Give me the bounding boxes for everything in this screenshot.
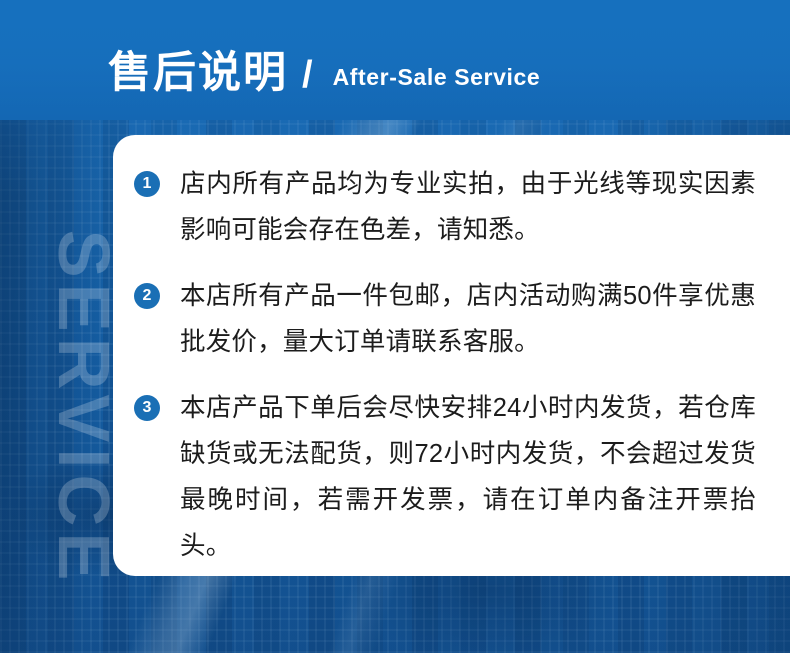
title-separator: / xyxy=(302,56,313,94)
service-info-card: 1 店内所有产品均为专业实拍，由于光线等现实因素影响可能会存在色差，请知悉。 2… xyxy=(113,135,790,576)
list-item: 2 本店所有产品一件包邮，店内活动购满50件享优惠批发价，量大订单请联系客服。 xyxy=(134,273,756,365)
banner-header: 售后说明 / After-Sale Service xyxy=(108,52,540,95)
list-item-number-badge: 1 xyxy=(134,171,160,197)
list-item-number-badge: 3 xyxy=(134,395,160,421)
page-title-chinese: 售后说明 xyxy=(108,52,288,95)
page-title-english: After-Sale Service xyxy=(333,66,541,89)
list-item-number-badge: 2 xyxy=(134,283,160,309)
after-sale-service-banner: SERVICE 售后说明 / After-Sale Service 1 店内所有… xyxy=(0,0,790,653)
service-terms-list: 1 店内所有产品均为专业实拍，由于光线等现实因素影响可能会存在色差，请知悉。 2… xyxy=(134,161,756,569)
list-item: 1 店内所有产品均为专业实拍，由于光线等现实因素影响可能会存在色差，请知悉。 xyxy=(134,161,756,253)
list-item-text: 店内所有产品均为专业实拍，由于光线等现实因素影响可能会存在色差，请知悉。 xyxy=(180,161,756,253)
list-item-text: 本店所有产品一件包邮，店内活动购满50件享优惠批发价，量大订单请联系客服。 xyxy=(180,273,756,365)
list-item: 3 本店产品下单后会尽快安排24小时内发货，若仓库缺货或无法配货，则72小时内发… xyxy=(134,385,756,569)
list-item-text: 本店产品下单后会尽快安排24小时内发货，若仓库缺货或无法配货，则72小时内发货，… xyxy=(180,385,756,569)
